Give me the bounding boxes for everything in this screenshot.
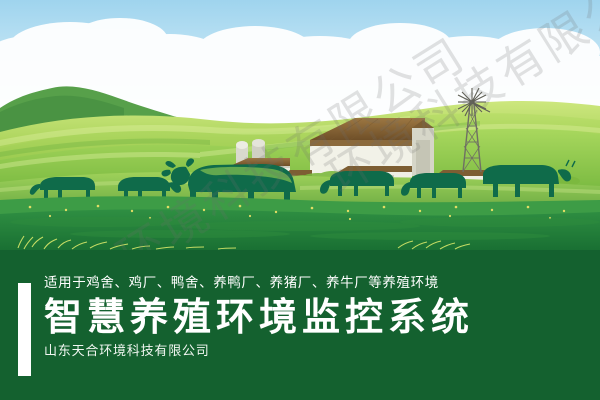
- company-name: 山东天合环境科技有限公司: [44, 345, 592, 359]
- banner-subtitle: 适用于鸡舍、鸡厂、鸭舍、养鸭厂、养猪厂、养牛厂等养殖环境: [44, 276, 592, 291]
- banner-content: 适用于鸡舍、鸡厂、鸭舍、养鸭厂、养猪厂、养牛厂等养殖环境 智慧养殖环境监控系统 …: [44, 276, 592, 359]
- page-title: 智慧养殖环境监控系统: [44, 295, 592, 340]
- farm-landscape-illustration: [0, 0, 600, 260]
- poster-root: 环境科技有限公司 环境科技有限公司 环境科技有限公司 环境科技有限公司 适用于鸡…: [0, 0, 600, 400]
- accent-bar: [18, 283, 31, 376]
- banner: 环境科技有限公司 环境科技有限公司 适用于鸡舍、鸡厂、鸭舍、养鸭厂、养猪厂、养牛…: [0, 250, 600, 400]
